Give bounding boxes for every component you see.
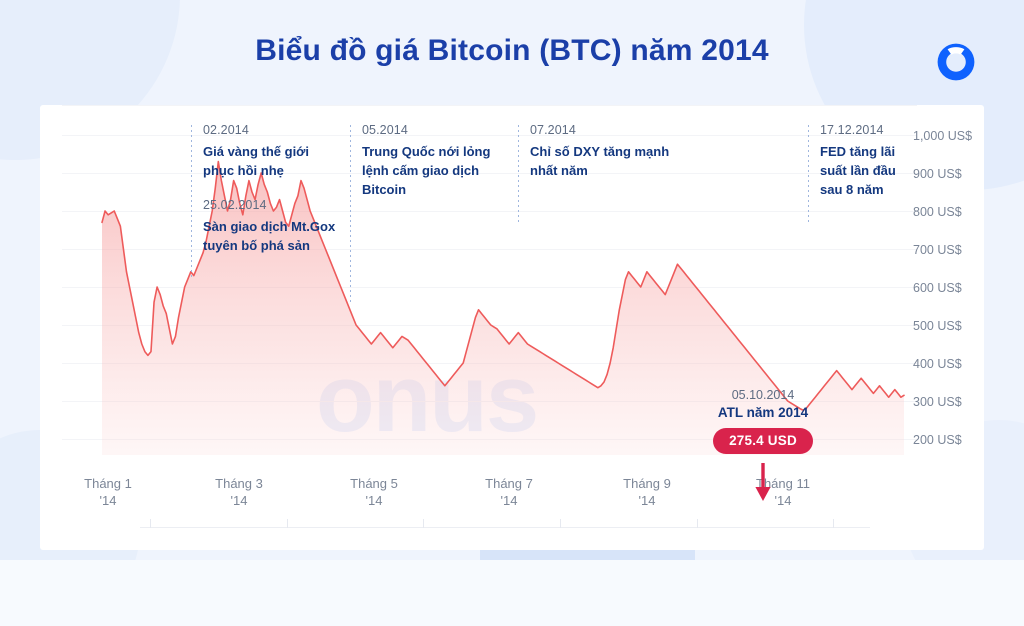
annotation-line: sau 8 năm bbox=[820, 182, 884, 197]
y-tick-label: 400 US$ bbox=[913, 357, 962, 371]
x-tick-label-1: Tháng 1 '14 bbox=[84, 475, 132, 509]
y-tick-label: 500 US$ bbox=[913, 319, 962, 333]
annotation-line: nhất năm bbox=[530, 163, 588, 178]
annotation-line: lệnh cấm giao dịch bbox=[362, 163, 479, 178]
annotation-ann-dxy: 07.2014 Chỉ số DXY tăng mạnh nhất năm bbox=[518, 123, 698, 223]
x-tick-year: '14 bbox=[501, 493, 518, 508]
annotation-text: Trung Quốc nới lỏng lệnh cấm giao dịch B… bbox=[362, 142, 527, 199]
annotation-date: 07.2014 bbox=[530, 123, 698, 137]
annotation-line: Bitcoin bbox=[362, 182, 406, 197]
annotation-text: Giá vàng thế giới phục hồi nhẹ bbox=[203, 142, 353, 180]
x-axis: Tháng 1 '14 Tháng 3 '14 Tháng 5 '14 Thán… bbox=[40, 475, 910, 545]
x-tick-year: '14 bbox=[100, 493, 117, 508]
x-axis-tick bbox=[560, 519, 561, 528]
x-tick-label-2: Tháng 3 '14 bbox=[215, 475, 263, 509]
x-tick-year: '14 bbox=[231, 493, 248, 508]
x-axis-tick bbox=[423, 519, 424, 528]
annotation-line: tuyên bố phá sản bbox=[203, 238, 310, 253]
down-arrow-icon bbox=[752, 463, 774, 508]
x-tick-month: Tháng 3 bbox=[215, 476, 263, 491]
x-tick-month: Tháng 5 bbox=[350, 476, 398, 491]
annotation-line: Chỉ số DXY tăng mạnh bbox=[530, 144, 669, 159]
annotation-date: 05.2014 bbox=[362, 123, 527, 137]
y-tick-label: 300 US$ bbox=[913, 395, 962, 409]
annotation-ann-china: 05.2014 Trung Quốc nới lỏng lệnh cấm gia… bbox=[350, 123, 527, 305]
annotation-date: 02.2014 bbox=[203, 123, 353, 137]
header: Biểu đồ giá Bitcoin (BTC) năm 2014 bbox=[0, 0, 1024, 105]
y-tick-label: 700 US$ bbox=[913, 243, 962, 257]
annotation-line: phục hồi nhẹ bbox=[203, 163, 284, 178]
x-axis-tick bbox=[833, 519, 834, 528]
page-title: Biểu đồ giá Bitcoin (BTC) năm 2014 bbox=[0, 34, 1024, 68]
x-tick-year: '14 bbox=[366, 493, 383, 508]
monitor-base-shape bbox=[0, 560, 1024, 626]
annotation-line: Trung Quốc nới lỏng bbox=[362, 144, 490, 159]
annotation-date: 17.12.2014 bbox=[820, 123, 930, 137]
x-tick-label-4: Tháng 7 '14 bbox=[485, 475, 533, 509]
annotation-line: Sàn giao dịch Mt.Gox bbox=[203, 219, 335, 234]
annotation-ann-fed: 17.12.2014 FED tăng lãi suất lần đầu sau… bbox=[808, 123, 930, 223]
y-tick-label: 600 US$ bbox=[913, 281, 962, 295]
annotation-line: FED tăng lãi bbox=[820, 144, 895, 159]
x-tick-month: Tháng 7 bbox=[485, 476, 533, 491]
x-tick-label-5: Tháng 9 '14 bbox=[623, 475, 671, 509]
x-tick-label-3: Tháng 5 '14 bbox=[350, 475, 398, 509]
x-tick-year: '14 bbox=[639, 493, 656, 508]
x-axis-rule bbox=[140, 527, 870, 528]
annotation-text: FED tăng lãi suất lần đầu sau 8 năm bbox=[820, 142, 930, 199]
atl-date: 05.10.2014 bbox=[688, 388, 838, 402]
atl-price-badge[interactable]: 275.4 USD bbox=[713, 428, 813, 454]
x-axis-tick bbox=[150, 519, 151, 528]
onus-logo-icon bbox=[934, 40, 978, 84]
annotation-line: suất lần đầu bbox=[820, 163, 896, 178]
atl-callout: 05.10.2014 ATL năm 2014 275.4 USD bbox=[688, 388, 838, 454]
annotation-line: Giá vàng thế giới bbox=[203, 144, 309, 159]
chart-card: onus 1,000 US$ 900 US$ 800 US$ 700 US$ 6 bbox=[40, 105, 984, 550]
atl-title: ATL năm 2014 bbox=[688, 405, 838, 420]
y-tick-label: 200 US$ bbox=[913, 433, 962, 447]
x-tick-month: Tháng 1 bbox=[84, 476, 132, 491]
x-tick-year: '14 bbox=[775, 493, 792, 508]
x-tick-month: Tháng 9 bbox=[623, 476, 671, 491]
x-axis-tick bbox=[287, 519, 288, 528]
annotation-text: Chỉ số DXY tăng mạnh nhất năm bbox=[530, 142, 698, 180]
x-axis-tick bbox=[697, 519, 698, 528]
